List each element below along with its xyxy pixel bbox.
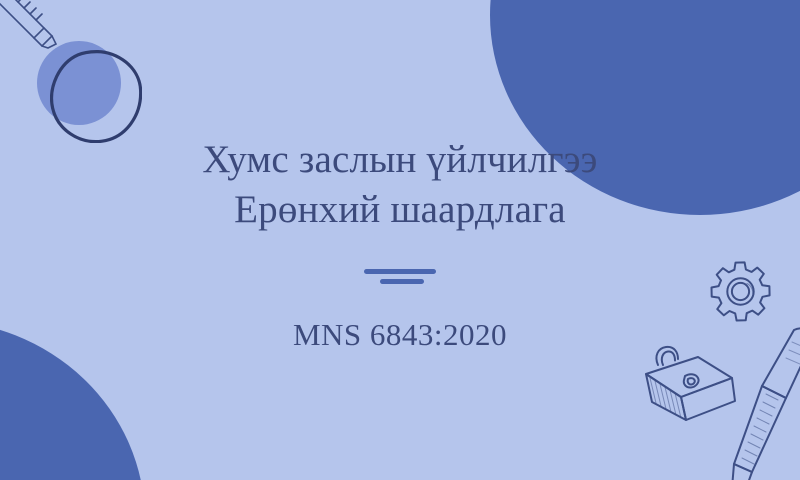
slide-content: Хумс заслын үйлчилгээ Ерөнхий шаардлага … bbox=[0, 0, 800, 480]
decorative-divider bbox=[355, 269, 445, 287]
title-slide: Хумс заслын үйлчилгээ Ерөнхий шаардлага … bbox=[0, 0, 800, 480]
title-line-1: Хумс заслын үйлчилгээ bbox=[202, 135, 597, 185]
divider-bar-long bbox=[364, 269, 436, 274]
divider-bar-short bbox=[380, 279, 424, 284]
title-line-2: Ерөнхий шаардлага bbox=[202, 185, 597, 235]
standard-code: MNS 6843:2020 bbox=[293, 317, 507, 353]
page-title: Хумс заслын үйлчилгээ Ерөнхий шаардлага bbox=[202, 127, 597, 235]
